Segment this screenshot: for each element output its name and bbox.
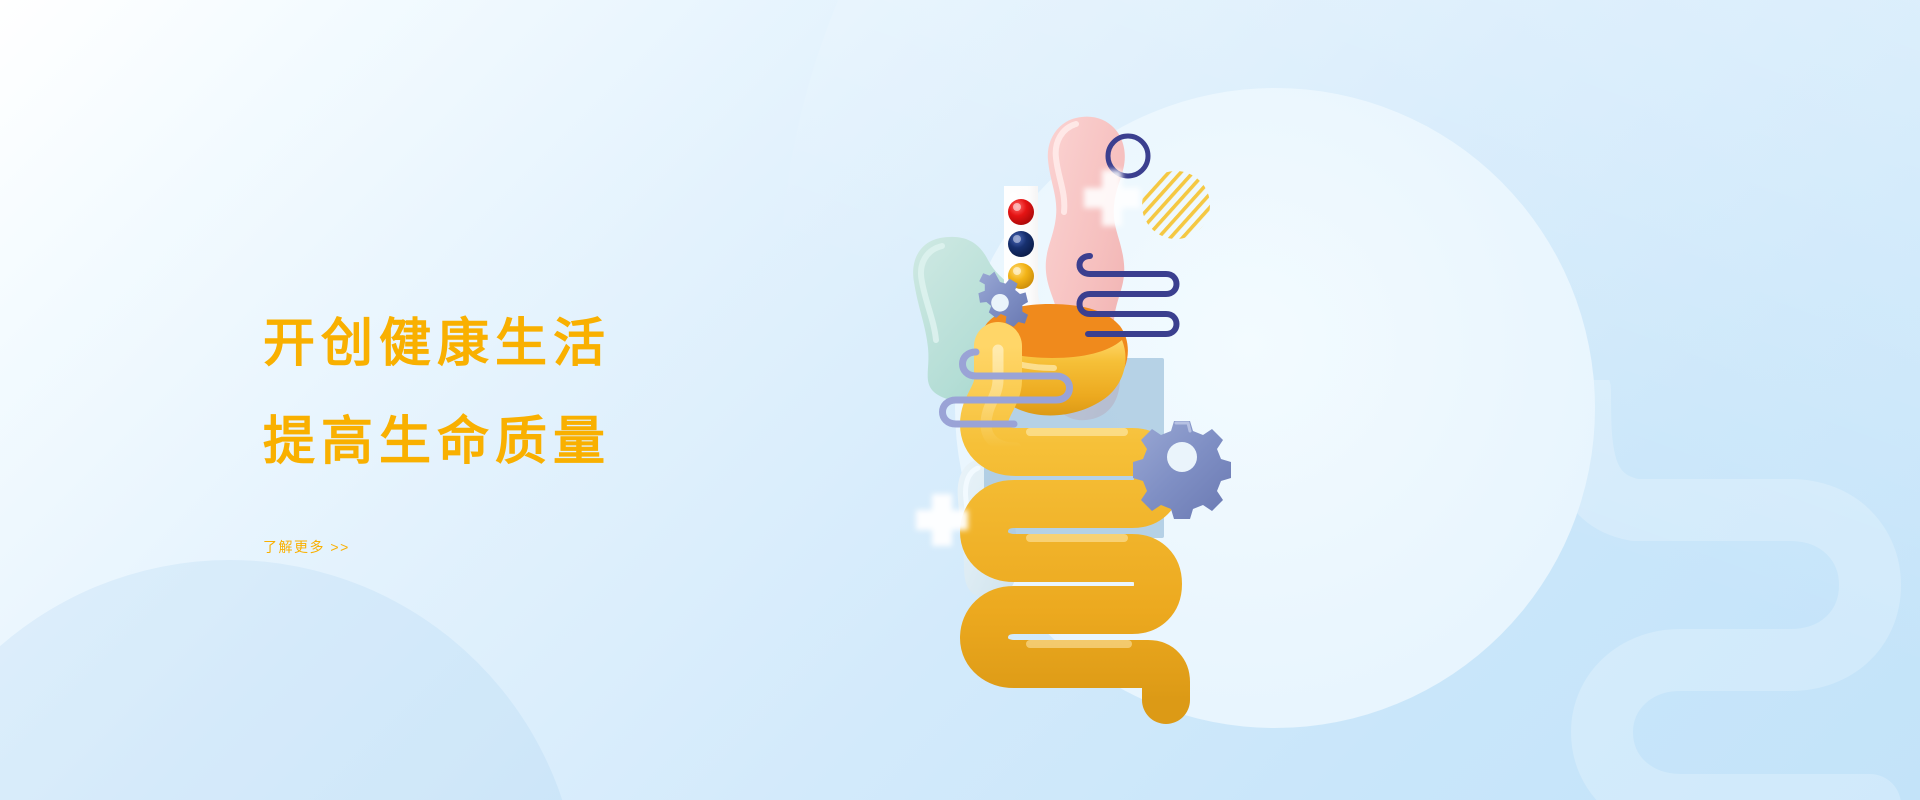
hatched-circle-icon — [1138, 167, 1216, 245]
headline-line-2: 提高生命质量 — [263, 416, 883, 468]
learn-more-link[interactable]: 了解更多 >> — [263, 537, 350, 557]
headline-line-1: 开创健康生活 — [263, 318, 883, 370]
hero-copy: 开创健康生活 提高生命质量 了解更多 >> — [263, 318, 883, 557]
test-tube-dot-navy-icon — [1008, 231, 1034, 257]
digestive-system-illustration — [880, 60, 1600, 760]
gear-large-icon — [1133, 421, 1231, 519]
hero-banner: 开创健康生活 提高生命质量 了解更多 >> — [0, 0, 1920, 800]
test-tube-dot-red-icon — [1008, 199, 1034, 225]
background-circle-bottom-left — [0, 560, 580, 800]
